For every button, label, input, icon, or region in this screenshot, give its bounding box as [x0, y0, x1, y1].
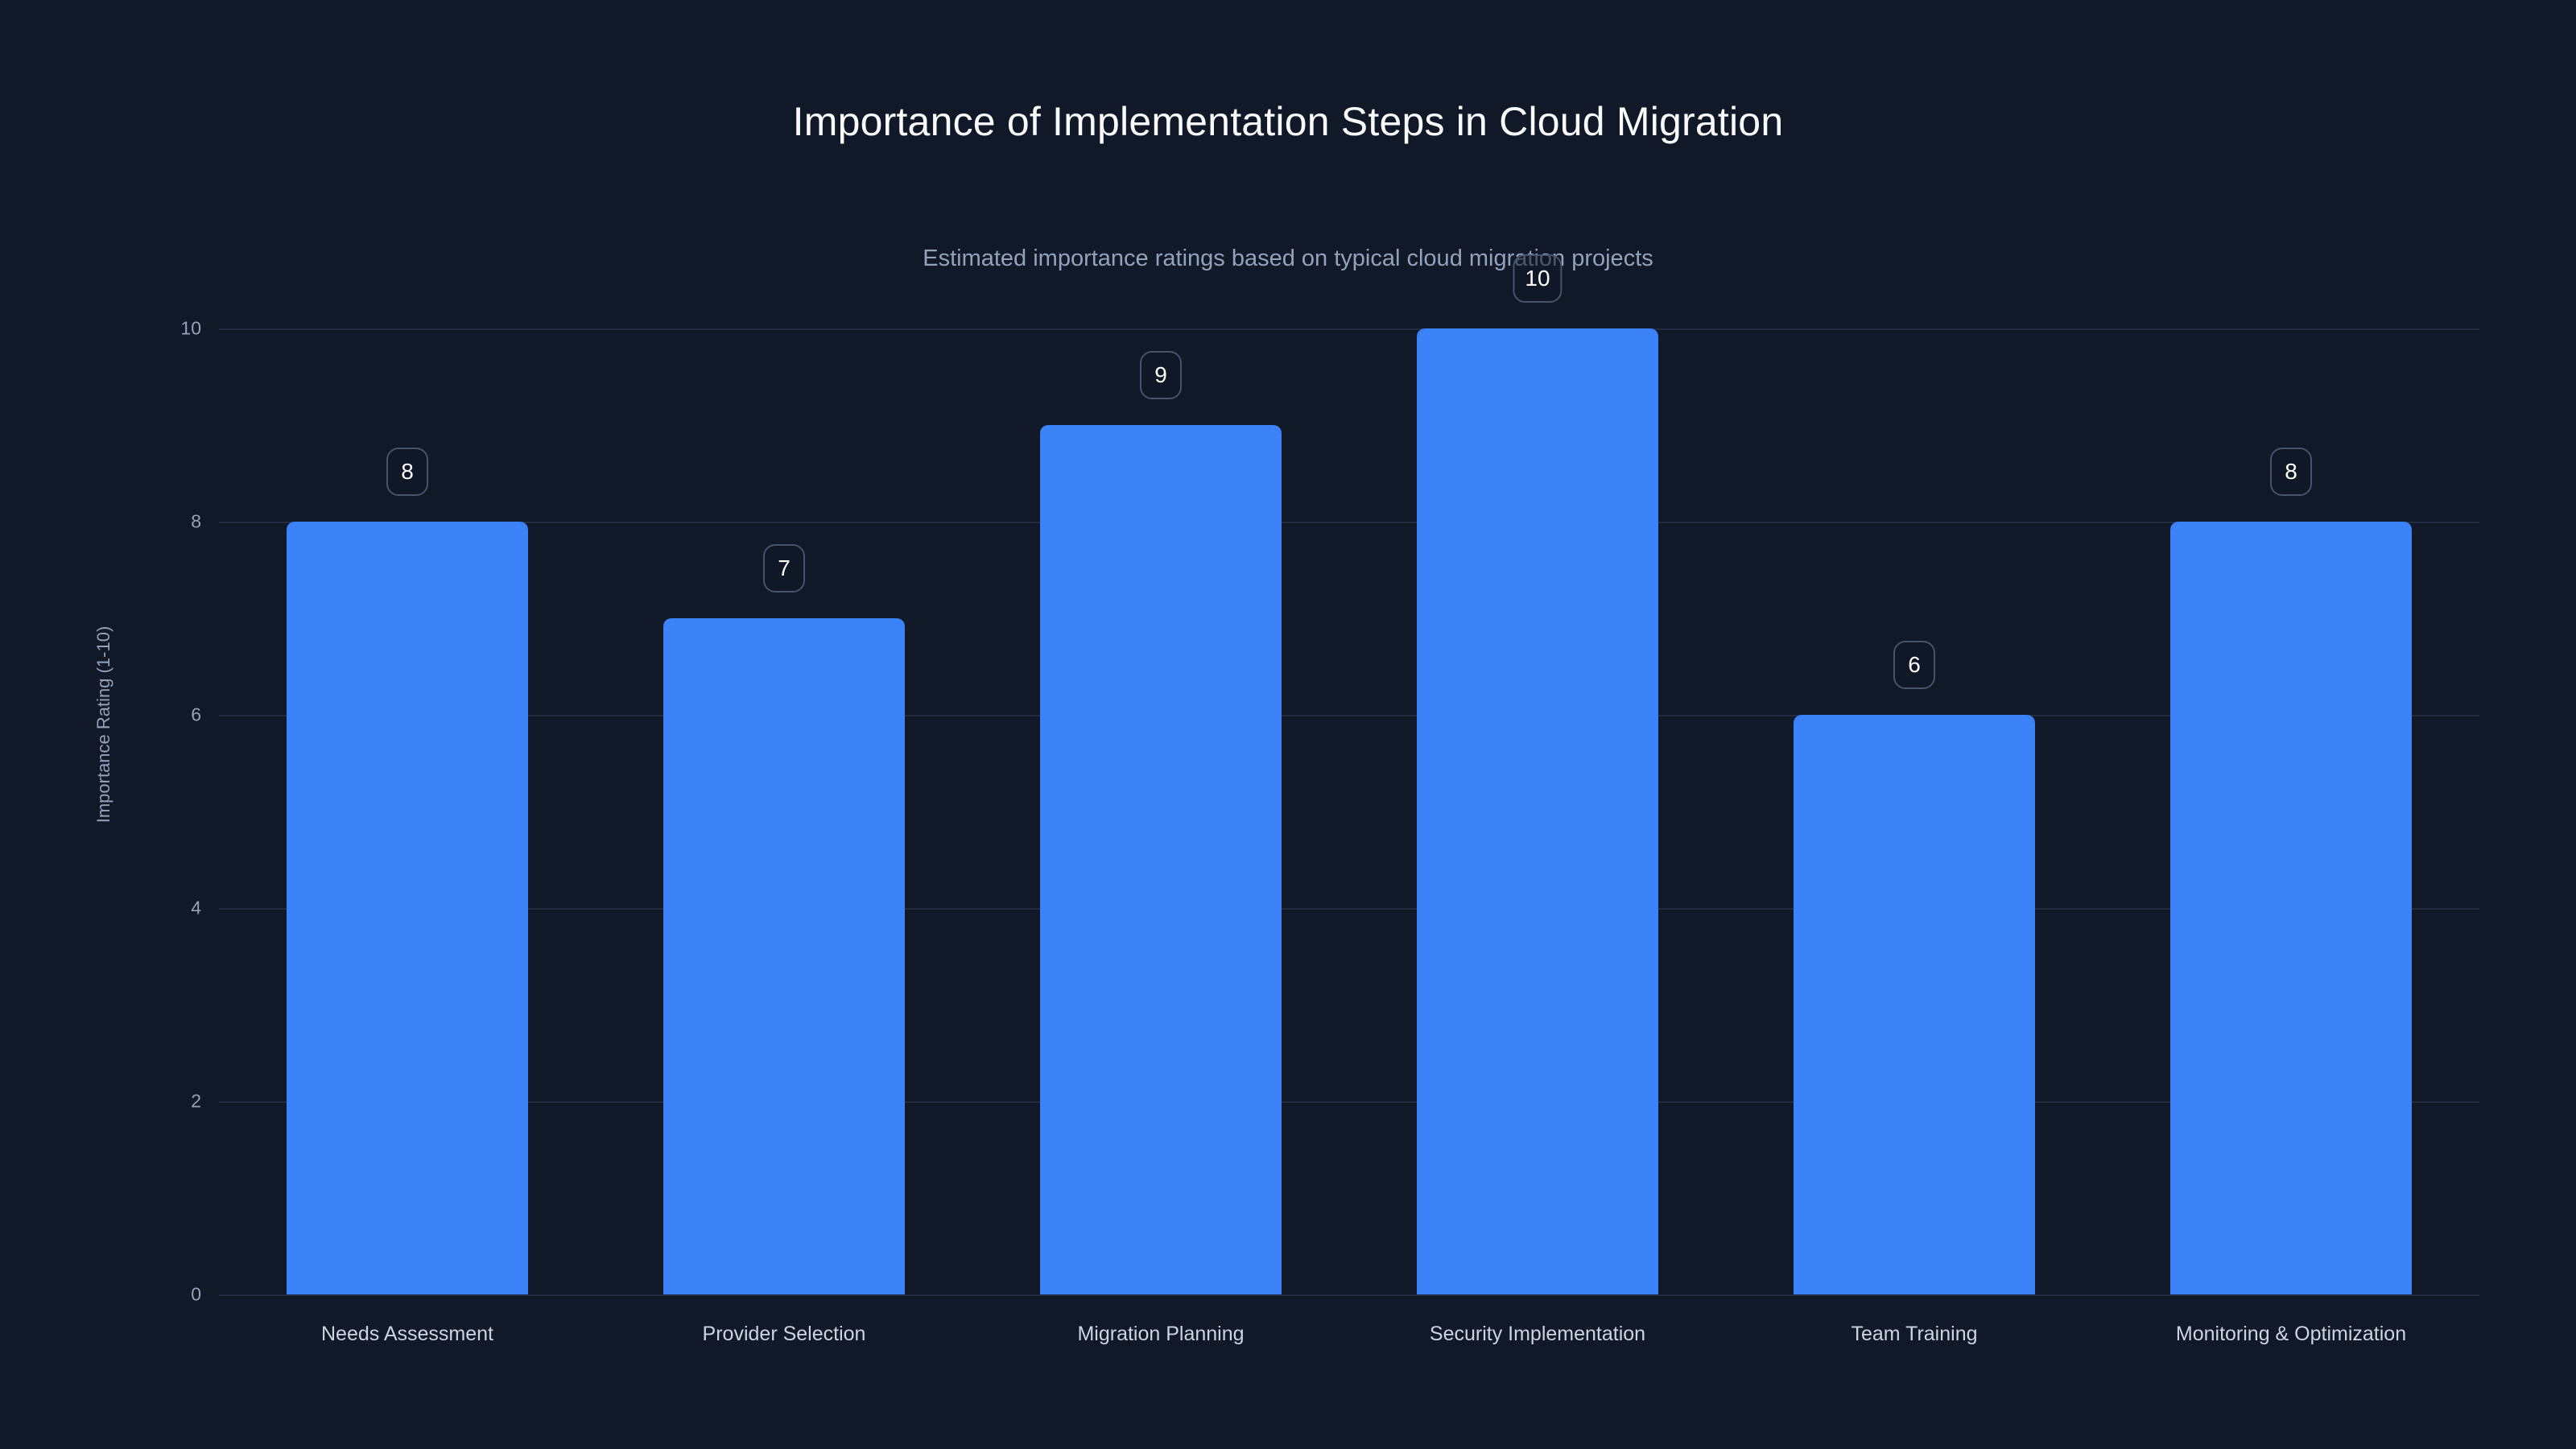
y-axis-tick-label: 4: [150, 898, 201, 919]
bar-value-badge: 6: [1893, 641, 1935, 689]
gridline: [219, 522, 2479, 523]
bar[interactable]: [1040, 425, 1282, 1294]
y-axis-tick-label: 6: [150, 704, 201, 726]
y-axis-tick-label: 10: [150, 318, 201, 340]
x-axis-tick-label: Migration Planning: [1077, 1323, 1244, 1346]
chart-title: Importance of Implementation Steps in Cl…: [0, 98, 2576, 145]
x-axis-tick-label: Monitoring & Optimization: [2176, 1323, 2406, 1346]
x-axis-tick-label: Provider Selection: [703, 1323, 866, 1346]
gridline: [219, 908, 2479, 910]
chart-subtitle: Estimated importance ratings based on ty…: [0, 246, 2576, 272]
x-axis-tick-label: Team Training: [1851, 1323, 1977, 1346]
bar[interactable]: [287, 522, 528, 1294]
gridline: [219, 715, 2479, 716]
y-axis-tick-label: 8: [150, 511, 201, 533]
gridline: [219, 1101, 2479, 1103]
bar-value-badge: 8: [2270, 448, 2312, 496]
bar-value-badge: 8: [386, 448, 428, 496]
y-axis-title: Importance Rating (1-10): [93, 626, 114, 824]
bar[interactable]: [1794, 715, 2035, 1294]
bar-value-badge: 9: [1140, 351, 1182, 399]
x-axis-tick-label: Security Implementation: [1430, 1323, 1645, 1346]
bar-value-badge: 10: [1513, 254, 1562, 303]
bar[interactable]: [663, 618, 905, 1294]
bar-value-badge: 7: [763, 544, 805, 592]
bar[interactable]: [1417, 328, 1658, 1294]
gridline: [219, 328, 2479, 330]
bar-chart-figure: Importance of Implementation Steps in Cl…: [0, 0, 2576, 1449]
bar[interactable]: [2170, 522, 2412, 1294]
y-axis-tick-label: 0: [150, 1284, 201, 1306]
y-axis-tick-label: 2: [150, 1091, 201, 1113]
gridline: [219, 1294, 2479, 1296]
x-axis-tick-label: Needs Assessment: [321, 1323, 493, 1346]
plot-area: [219, 328, 2479, 1294]
